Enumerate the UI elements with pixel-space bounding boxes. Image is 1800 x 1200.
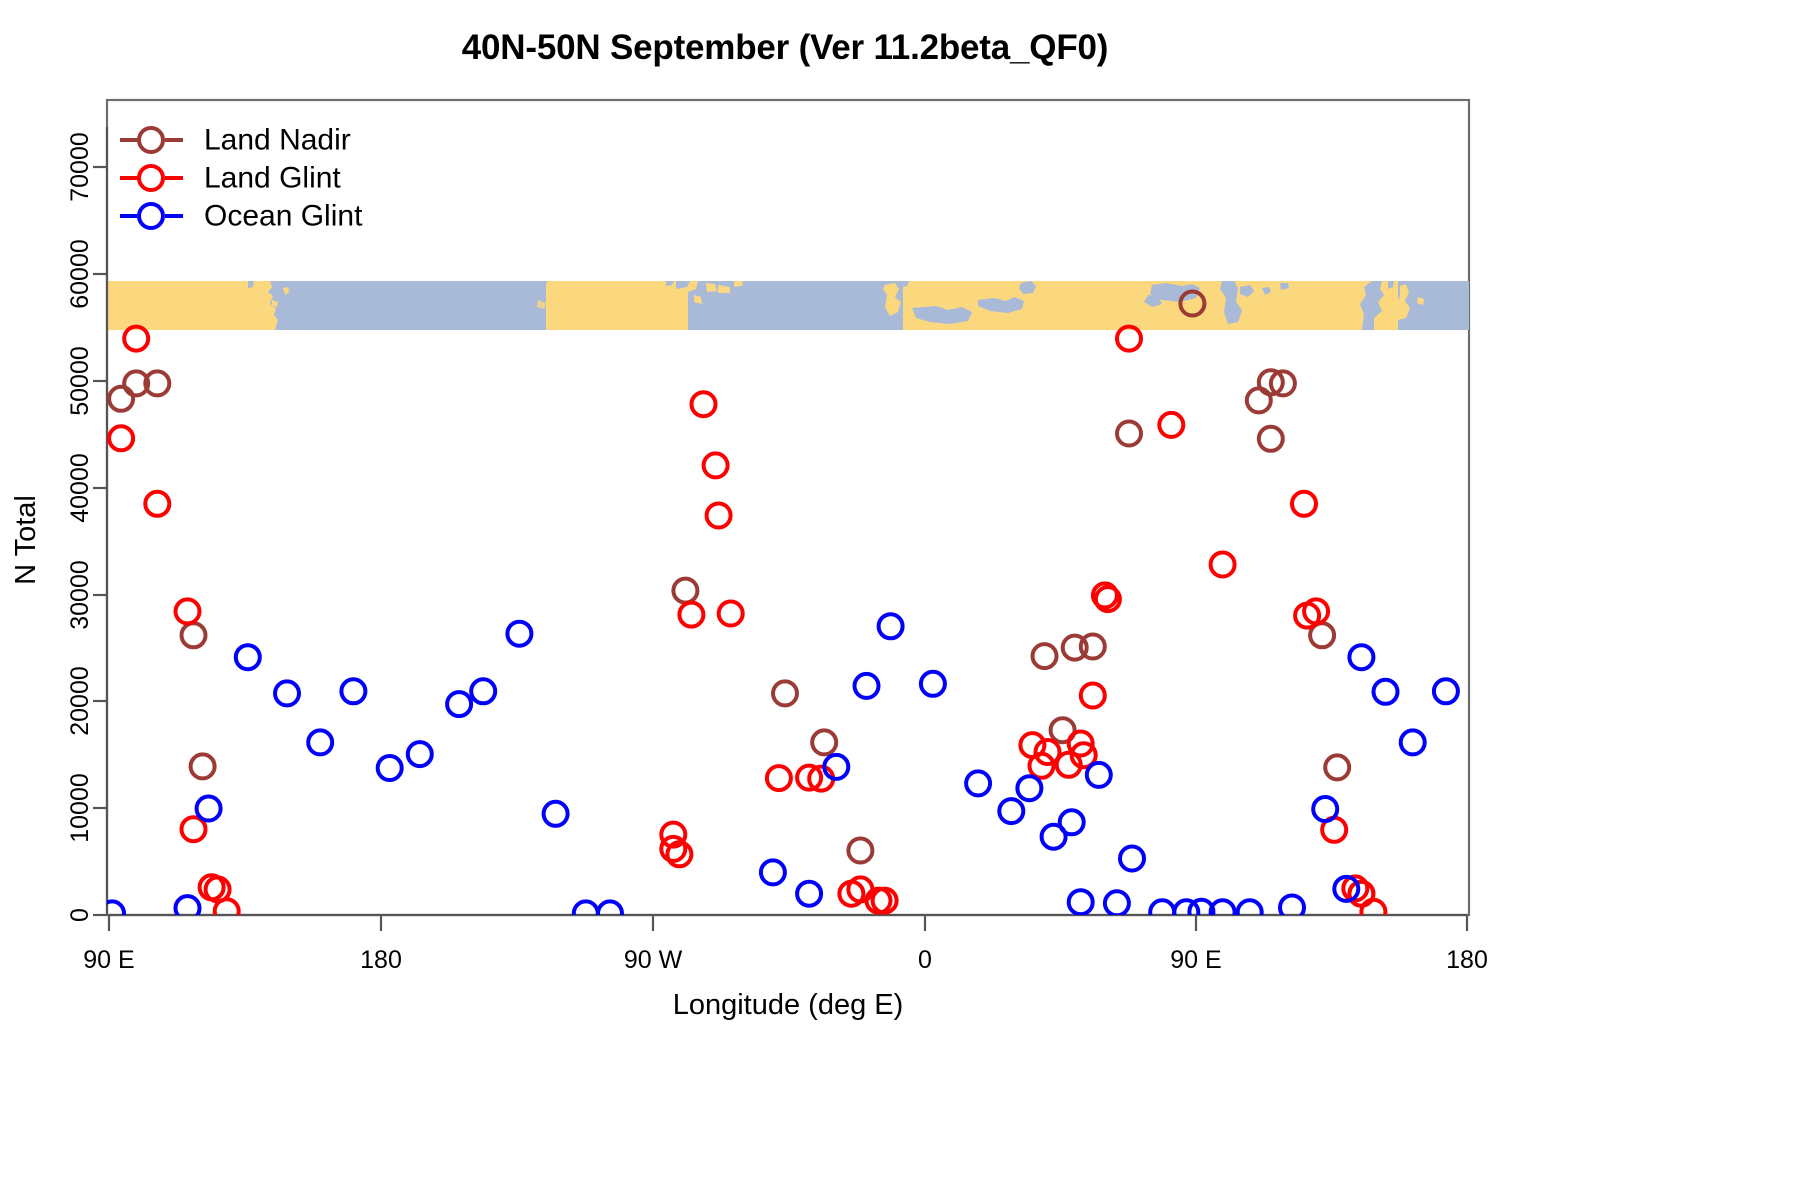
world-map-strip: [107, 281, 1469, 330]
y-tick-label-10000: 10000: [66, 773, 94, 843]
y-tick-label-30000: 30000: [66, 560, 94, 630]
y-tick-label-20000: 20000: [66, 666, 94, 736]
y-tick-labels: 0 10000 20000 30000 40000 50000 60000 70…: [66, 132, 94, 922]
x-axis-title: Longitude (deg E): [673, 989, 904, 1021]
legend-label: Ocean Glint: [204, 200, 363, 233]
y-tick-label-50000: 50000: [66, 346, 94, 416]
y-axis: [93, 127, 107, 915]
x-tick-label-180-left: 180: [360, 946, 402, 974]
y-tick-label-0: 0: [66, 908, 94, 922]
x-tick-label-180-right: 180: [1446, 946, 1488, 974]
x-tick-label-90E-right: 90 E: [1170, 946, 1221, 974]
x-tick-label-0: 0: [918, 946, 932, 974]
x-tick-label-90E-left: 90 E: [83, 946, 134, 974]
legend-label: Land Glint: [204, 162, 341, 195]
x-tick-labels: 90 E 180 90 W 0 90 E 180: [83, 946, 1488, 974]
chart-figure: 40N-50N September (Ver 11.2beta_QF0): [0, 0, 1800, 1200]
y-axis-title: N Total: [10, 495, 42, 585]
x-axis: [109, 915, 1467, 931]
legend-label: Land Nadir: [204, 124, 351, 157]
x-tick-label-90W: 90 W: [624, 946, 683, 974]
y-tick-label-60000: 60000: [66, 239, 94, 309]
y-tick-label-40000: 40000: [66, 453, 94, 523]
scatter-plot: 0 10000 20000 30000 40000 50000 60000 70…: [0, 0, 1800, 1200]
y-tick-label-70000: 70000: [66, 132, 94, 202]
